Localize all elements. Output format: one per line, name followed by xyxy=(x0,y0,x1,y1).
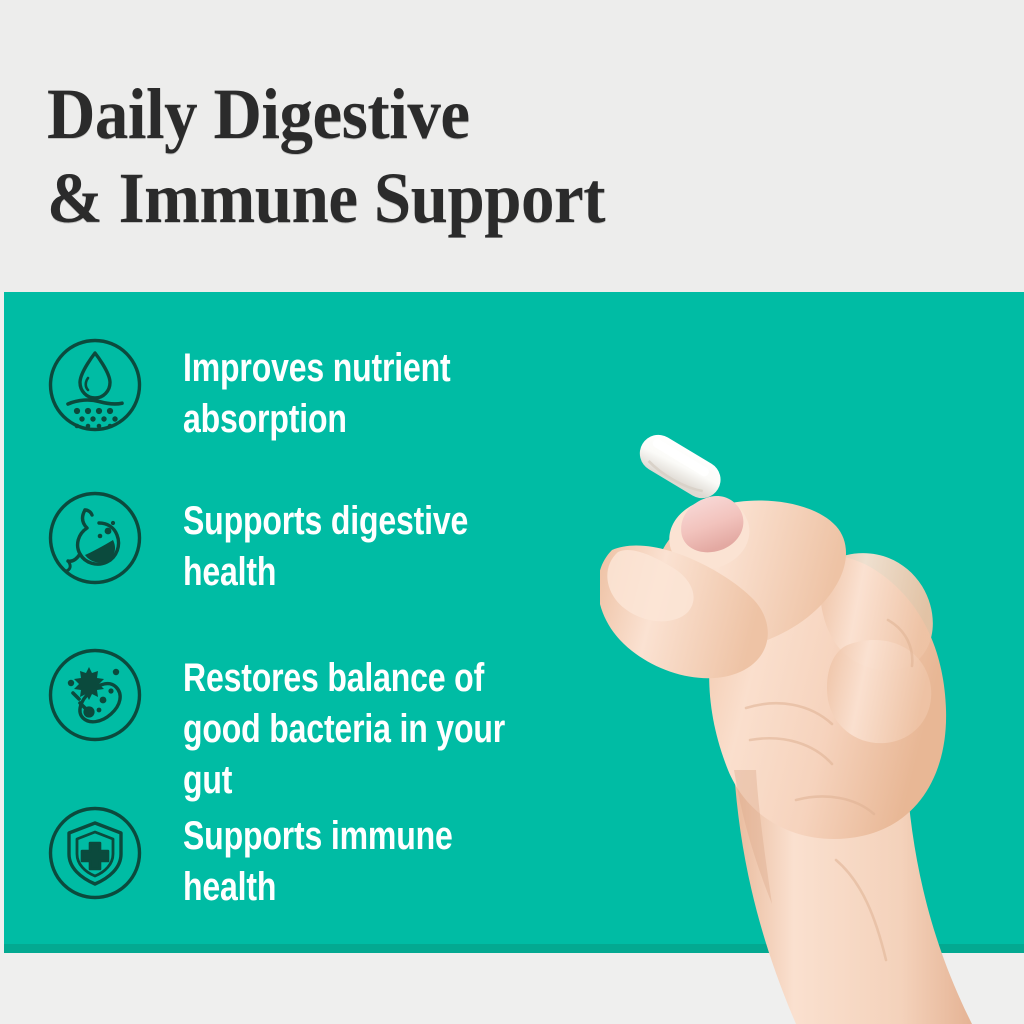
list-item: Improves nutrient absorption xyxy=(47,337,647,445)
list-item: Supports digestive health xyxy=(47,490,647,598)
list-item: Supports immune health xyxy=(47,805,647,913)
list-item-label: Supports immune health xyxy=(183,811,554,913)
list-item-label: Restores balance of good bacteria in you… xyxy=(183,653,554,806)
list-item: Restores balance of good bacteria in you… xyxy=(47,647,647,806)
bacteria-icon xyxy=(47,647,143,743)
shield-cross-icon xyxy=(47,805,143,901)
bottom-background-band xyxy=(0,953,1024,1024)
list-item-label: Supports digestive health xyxy=(183,496,554,598)
nutrient-absorption-icon xyxy=(47,337,143,433)
page-title: Daily Digestive & Immune Support xyxy=(47,72,791,240)
product-graphic: Daily Digestive & Immune Support xyxy=(0,0,1024,1024)
list-item-label: Improves nutrient absorption xyxy=(183,343,554,445)
stomach-icon xyxy=(47,490,143,586)
benefit-list: Improves nutrient absorption xyxy=(0,292,660,953)
